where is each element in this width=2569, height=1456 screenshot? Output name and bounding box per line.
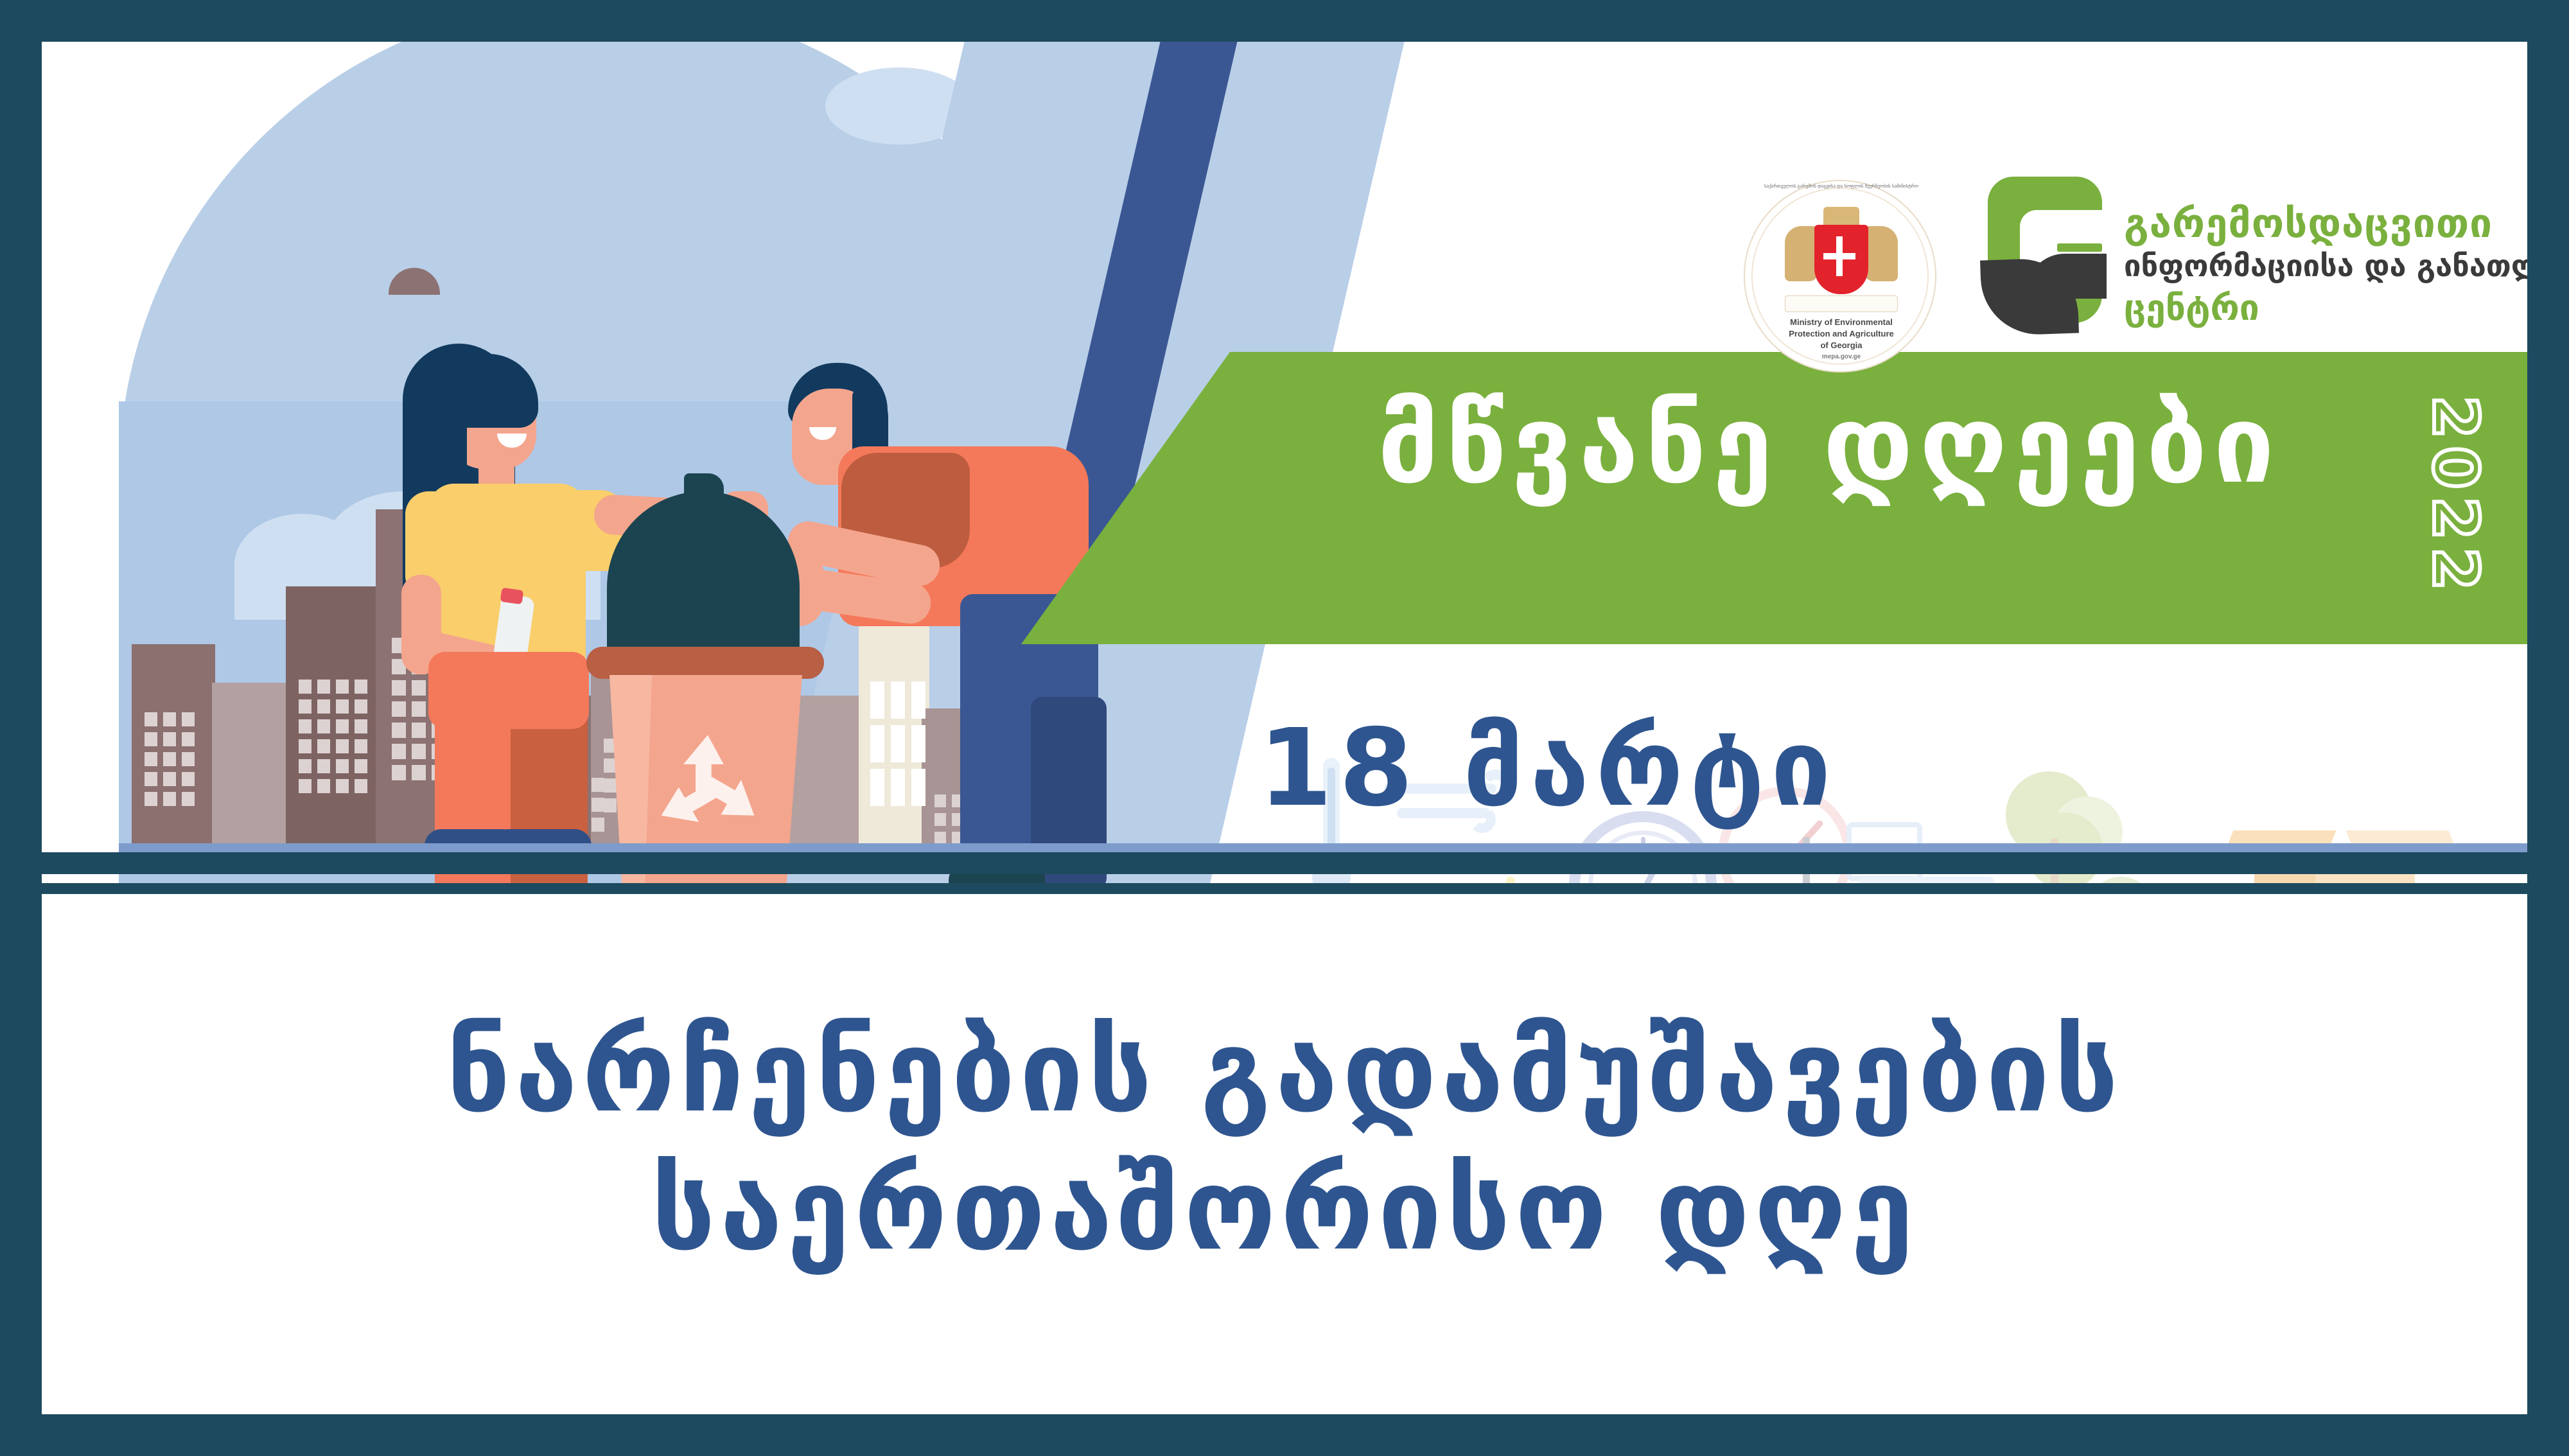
- poster-canvas: მწვანე დღეები 2022 18 მარტი: [42, 42, 2527, 1414]
- poster-root: მწვანე დღეები 2022 18 მარტი: [0, 0, 2569, 1456]
- ministry-emblem: საქართველოს გარემოს დაცვისა და სოფლის მე…: [1744, 180, 1936, 373]
- eiec-line3: ცენტრი: [2124, 287, 2259, 328]
- emblem-georgian-ring-text: საქართველოს გარემოს დაცვისა და სოფლის მე…: [1745, 184, 1938, 189]
- emblem-crown: [1823, 207, 1859, 225]
- ground-dark-strip: [42, 852, 2527, 874]
- emblem-url: mepa.gov.ge: [1745, 353, 1938, 360]
- headline-line-1: ნარჩენების გადამუშავების: [446, 1003, 2123, 1141]
- eiec-line2: ინფორმაციისა და განათლების: [2124, 249, 2527, 284]
- eiec-logo: გარემოსდაცვითი ინფორმაციისა და განათლები…: [1975, 177, 2502, 347]
- emblem-lion-left: [1785, 226, 1818, 281]
- emblem-en-line3: of Georgia: [1745, 340, 1938, 350]
- eiec-line1: გარემოსდაცვითი: [2124, 200, 2493, 247]
- emblem-en-line2: Protection and Agriculture: [1745, 329, 1938, 338]
- emblem-lion-right: [1864, 226, 1898, 281]
- garbage-bag-knot: [684, 473, 724, 507]
- emblem-en-line1: Ministry of Environmental: [1745, 317, 1938, 327]
- emblem-scroll: [1785, 295, 1898, 312]
- top-section: მწვანე დღეები 2022 18 მარტი: [42, 42, 2527, 883]
- logo-row: საქართველოს გარემოს დაცვისა და სოფლის მე…: [1744, 180, 2502, 340]
- event-date: 18 მარტი: [1258, 706, 1837, 830]
- headline-line-2: საერთაშორისო დღე: [651, 1141, 1918, 1279]
- eiec-logomark: [1975, 177, 2113, 340]
- headline-section: ნარჩენების გადამუშავების საერთაშორისო დღ…: [42, 894, 2527, 1414]
- section-divider: [42, 883, 2527, 894]
- banner-title: მწვანე დღეები: [1378, 390, 2281, 498]
- date-row: 18 მარტი: [42, 706, 2527, 830]
- bin-lid: [586, 647, 824, 679]
- bottle-cap: [500, 588, 524, 605]
- banner-year: 2022: [2419, 396, 2491, 598]
